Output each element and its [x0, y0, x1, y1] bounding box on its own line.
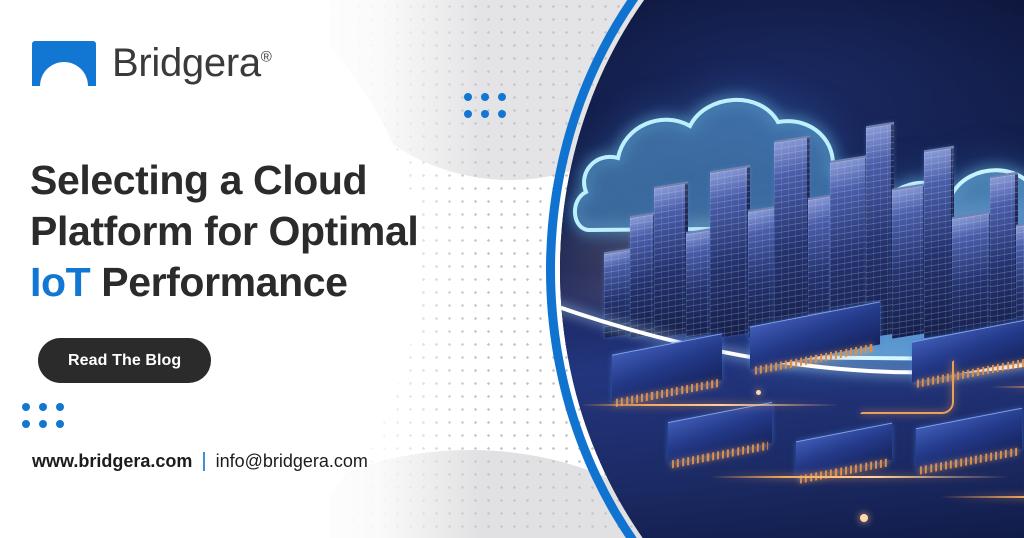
headline-line-2: Platform for Optimal: [30, 208, 418, 254]
bridgera-arch-logo-icon: [30, 40, 98, 86]
page-title: Selecting a Cloud Platform for Optimal I…: [30, 155, 500, 308]
hero-artwork: [560, 0, 1024, 538]
footer-separator: |: [201, 450, 206, 473]
email-link[interactable]: info@bridgera.com: [216, 451, 368, 472]
brand-name: Bridgera®: [112, 41, 272, 86]
brand-name-text: Bridgera: [112, 41, 261, 85]
blue-dot-grid-bottom: [22, 403, 64, 428]
promo-banner: Bridgera® Selecting a Cloud Platform for…: [0, 0, 1024, 538]
dot: [56, 403, 64, 411]
dot: [39, 420, 47, 428]
dot: [22, 420, 30, 428]
dot: [39, 403, 47, 411]
headline-accent-word: IoT: [30, 259, 90, 305]
content-column: Bridgera® Selecting a Cloud Platform for…: [0, 0, 560, 538]
dot: [464, 93, 472, 101]
dot: [481, 93, 489, 101]
website-link[interactable]: www.bridgera.com: [32, 451, 192, 472]
dot: [22, 403, 30, 411]
contact-footer: www.bridgera.com | info@bridgera.com: [32, 450, 368, 473]
circuit-board: [560, 300, 1024, 538]
dot: [464, 110, 472, 118]
dot: [498, 93, 506, 101]
hero-artwork-panel: [560, 0, 1024, 538]
headline-line-3: Performance: [90, 259, 347, 305]
dot: [498, 110, 506, 118]
headline-line-1: Selecting a Cloud: [30, 157, 367, 203]
dot: [481, 110, 489, 118]
brand-logo[interactable]: Bridgera®: [30, 40, 272, 86]
registered-mark: ®: [261, 48, 272, 65]
blue-dot-grid-top: [464, 93, 506, 118]
read-the-blog-button[interactable]: Read The Blog: [38, 338, 211, 383]
dot: [56, 420, 64, 428]
